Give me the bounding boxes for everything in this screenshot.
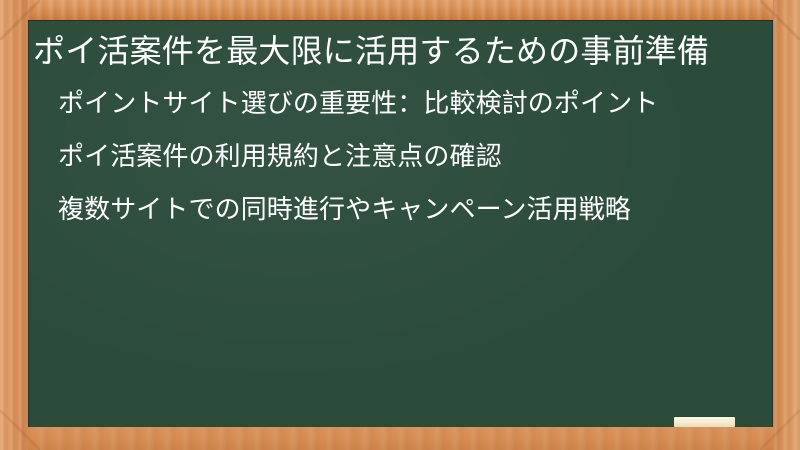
frame-chalk-ledge: [0, 427, 800, 450]
agenda-item: ポイントサイト選びの重要性：比較検討のポイント: [58, 87, 765, 121]
frame-rail-top: [0, 0, 800, 20]
board-content: ポイ活案件を最大限に活用するための事前準備 ポイントサイト選びの重要性：比較検討…: [28, 20, 773, 226]
frame-rail-right: [773, 0, 800, 450]
slide-title: ポイ活案件を最大限に活用するための事前準備: [28, 20, 773, 72]
agenda-list: ポイントサイト選びの重要性：比較検討のポイント ポイ活案件の利用規約と注意点の確…: [28, 72, 773, 226]
chalkboard-surface: ポイ活案件を最大限に活用するための事前準備 ポイントサイト選びの重要性：比較検討…: [28, 20, 773, 427]
chalk-stick: [674, 417, 735, 427]
agenda-item: ポイ活案件の利用規約と注意点の確認: [58, 140, 765, 174]
chalkboard-slide: ポイ活案件を最大限に活用するための事前準備 ポイントサイト選びの重要性：比較検討…: [0, 0, 800, 450]
agenda-item: 複数サイトでの同時進行やキャンペーン活用戦略: [58, 193, 765, 227]
frame-rail-left: [0, 0, 28, 450]
